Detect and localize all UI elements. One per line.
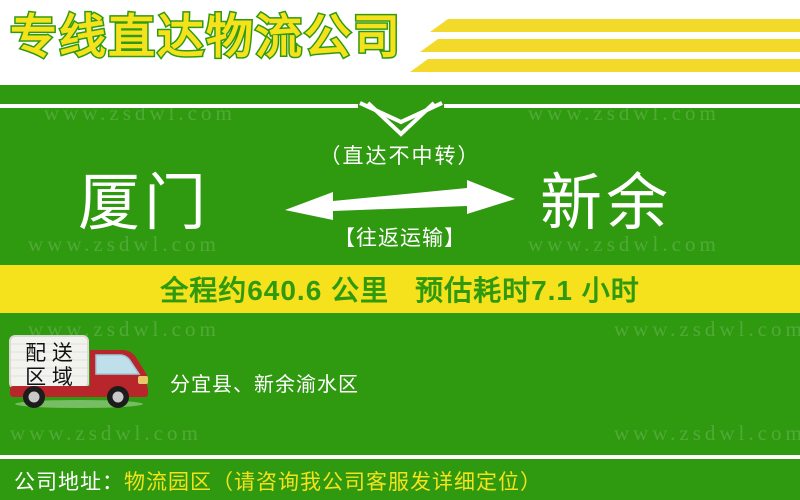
header-stripe bbox=[430, 19, 800, 32]
watermark-text: www.zsdwl.com bbox=[614, 421, 800, 446]
address-value: 物流园区（请咨询我公司客服发详细定位） bbox=[124, 471, 542, 494]
header-stripe bbox=[410, 59, 800, 72]
duration-label: 预估耗时7.1 小时 bbox=[415, 269, 640, 309]
direct-route-note: （直达不中转） bbox=[0, 140, 800, 170]
distance-label: 全程约640.6 公里 bbox=[160, 269, 389, 309]
bottom-divider-rule bbox=[0, 455, 800, 459]
company-address: 公司地址：物流园区（请咨询我公司客服发详细定位） bbox=[14, 466, 542, 496]
bidirectional-arrow-icon bbox=[285, 180, 515, 222]
page-title: 专线直达物流公司 bbox=[10, 6, 402, 68]
header-band: 专线直达物流公司 bbox=[0, 0, 800, 85]
delivery-areas-text: 分宜县、新余渝水区 bbox=[170, 368, 359, 397]
truck-badge-line-2: 区 域 bbox=[25, 366, 73, 389]
header-stripe bbox=[420, 39, 800, 52]
watermark-text: www.zsdwl.com bbox=[10, 421, 202, 446]
double-chevron-down-icon bbox=[358, 100, 444, 140]
watermark-text: www.zsdwl.com bbox=[614, 317, 800, 342]
header-stripes bbox=[410, 0, 800, 85]
truck-badge-line-1: 配 送 bbox=[25, 342, 73, 365]
address-label: 公司地址： bbox=[14, 471, 124, 494]
distance-banner: 全程约640.6 公里 预估耗时7.1 小时 bbox=[0, 265, 800, 313]
logistics-route-poster: www.zsdwl.com www.zsdwl.com www.zsdwl.co… bbox=[0, 0, 800, 500]
delivery-truck-icon: 配 送 区 域 bbox=[6, 334, 152, 408]
round-trip-label: 【往返运输】 bbox=[0, 222, 800, 252]
